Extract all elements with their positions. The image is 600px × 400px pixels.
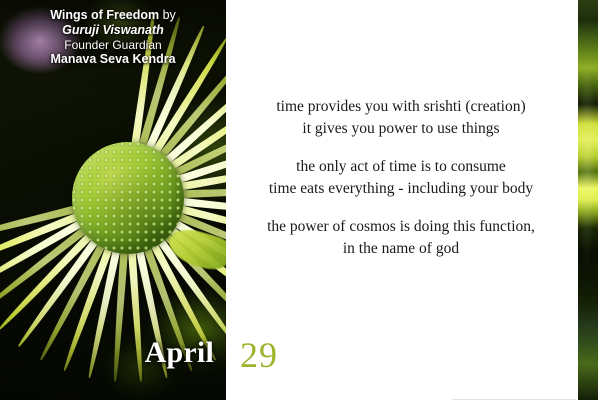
day-number: 29	[240, 334, 278, 376]
quote-stanza: the power of cosmos is doing this functi…	[226, 216, 576, 260]
branding-organization: Manava Seva Kendra	[0, 52, 226, 67]
disc-shading	[72, 142, 184, 254]
branding-title: Wings of Freedom	[50, 8, 159, 22]
branding-overlay: Wings of Freedom by Guruji Viswanath Fou…	[0, 8, 226, 66]
quote-stanza: the only act of time is to consume time …	[226, 156, 576, 200]
branding-author: Guruji Viswanath	[0, 23, 226, 38]
quote-area: time provides you with srishti (creation…	[226, 0, 576, 400]
flower-disc-center	[72, 142, 184, 254]
right-photo-strip	[576, 0, 598, 400]
branding-title-line: Wings of Freedom by	[0, 8, 226, 23]
quote-line: the power of cosmos is doing this functi…	[226, 216, 576, 238]
calendar-card: Wings of Freedom by Guruji Viswanath Fou…	[0, 0, 600, 400]
branding-by-word: by	[159, 8, 176, 22]
branding-role: Founder Guardian	[0, 38, 226, 52]
quote-line: in the name of god	[226, 238, 576, 260]
right-strip-highlight	[576, 0, 598, 400]
quote-line: time provides you with srishti (creation…	[226, 96, 576, 118]
quote-line: time eats everything - including your bo…	[226, 178, 576, 200]
right-strip-inner-edge	[576, 0, 578, 400]
quote-line: the only act of time is to consume	[226, 156, 576, 178]
quote-text: time provides you with srishti (creation…	[226, 96, 576, 260]
quote-line: it gives you power to use things	[226, 118, 576, 140]
flower-photo: Wings of Freedom by Guruji Viswanath Fou…	[0, 0, 226, 400]
month-label: April	[0, 336, 214, 370]
quote-stanza: time provides you with srishti (creation…	[226, 96, 576, 140]
